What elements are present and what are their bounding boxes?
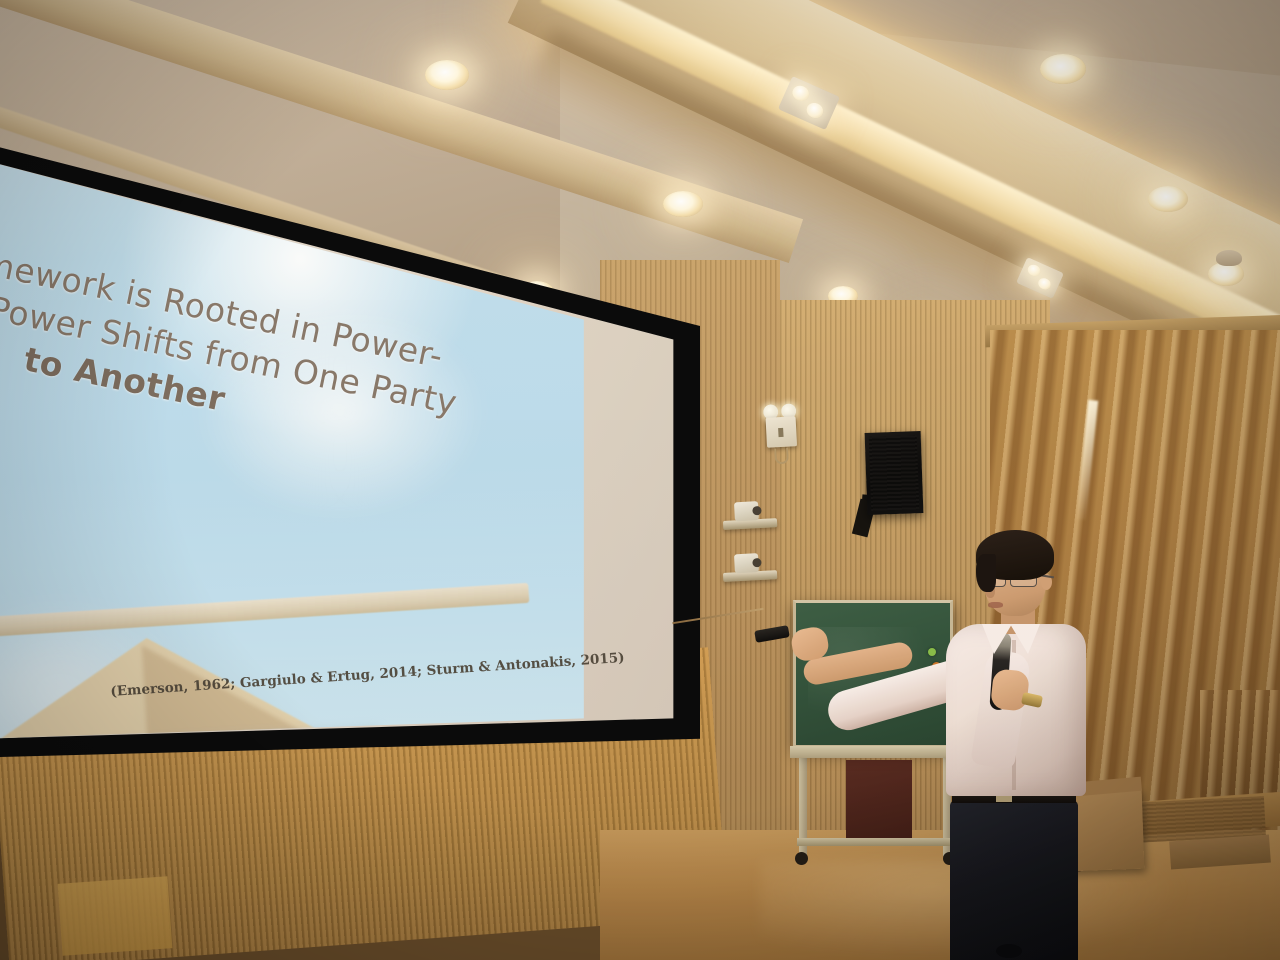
- ceiling-spot-fixture: [1216, 250, 1242, 266]
- stand-caster-left: [795, 852, 808, 865]
- wall-access-panel: [58, 876, 173, 955]
- presenter-shoe: [996, 944, 1022, 958]
- presenter: [900, 520, 1130, 960]
- ceiling-downlight-2: [663, 191, 703, 217]
- wall-mounted-loudspeaker: [865, 431, 924, 515]
- presenter-trousers: [950, 800, 1078, 960]
- ceiling-downlight-6: [1148, 186, 1188, 212]
- presenter-mouth: [988, 602, 1003, 608]
- emergency-light-switch: [778, 428, 783, 437]
- emergency-light: [762, 403, 800, 449]
- lecture-hall-scene: ...cal framework is Rooted in Power- ...…: [0, 0, 1280, 960]
- speaker-grille: [869, 435, 920, 511]
- presenter-hair-side: [976, 554, 996, 592]
- ceiling-downlight-5: [1040, 54, 1086, 84]
- presenter-mic-hand: [990, 668, 1030, 712]
- ceiling-downlight-1: [425, 60, 469, 90]
